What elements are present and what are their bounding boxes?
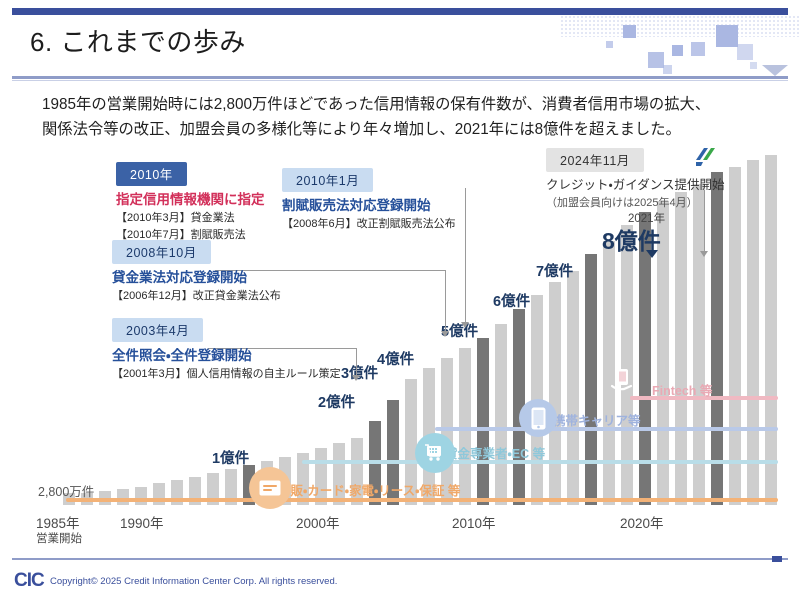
callout-heading: クレジット・ガイダンス提供開始 [546, 174, 725, 193]
band-label-carrier: 携帯キャリア等 [553, 410, 641, 429]
bar-2019 [675, 192, 686, 505]
peak-pointer-triangle [646, 250, 658, 258]
lead-line-1: 1985年の営業開始時には2,800万件ほどであった信用情報の保有件数が、消費者… [42, 92, 772, 117]
bar-2023 [747, 160, 758, 505]
leader-arrow-2024 [700, 251, 708, 257]
leader-line-2003-v [356, 348, 357, 376]
axis-tick-2020: 2020年 [620, 512, 664, 532]
deco-square [750, 62, 757, 69]
deco-square [606, 41, 613, 48]
cic-logo: CIC [14, 570, 44, 592]
band-label-fintech: Fintech 等 [652, 380, 712, 399]
bar-2012 [549, 282, 560, 505]
bar-2009 [495, 324, 506, 505]
title-divider [12, 76, 788, 79]
bar-2022 [729, 167, 740, 505]
milestone-1oku: 1億件 [212, 447, 249, 468]
triangle-down-icon [762, 65, 788, 76]
axis-tick-1985: 1985年 [36, 512, 80, 532]
copyright-text: Copyright© 2025 Credit Information Cente… [50, 576, 337, 587]
milestone-7oku: 7億件 [536, 260, 573, 281]
footer-divider [12, 558, 788, 560]
callout-heading: 貸金業法対応登録開始 [112, 266, 281, 286]
leader-arrow-2008 [441, 331, 449, 337]
deco-square [663, 65, 672, 74]
bar-2013 [567, 271, 578, 505]
callout-chip: 2024年11月 [546, 148, 644, 172]
milestone-2oku: 2億件 [318, 391, 355, 412]
callout-2003-apr: 2003年4月 全件照会・全件登録開始 【2001年3月】個人信用情報の自主ルー… [112, 318, 341, 381]
axis-tick-1990: 1990年 [120, 512, 164, 532]
smartphone-icon [519, 399, 557, 437]
cic-logo-mark-icon [694, 146, 716, 173]
shopping-cart-icon [415, 433, 455, 473]
callout-sub: 【2010年3月】貸金業法 [116, 209, 265, 225]
lead-line-2: 関係法令等の改正、加盟会員の多様化等により年々増加し、2021年には8億件を超え… [42, 117, 772, 142]
deco-square [648, 52, 664, 68]
callout-heading: 全件照会・全件登録開始 [112, 344, 341, 364]
lead-paragraph: 1985年の営業開始時には2,800万件ほどであった信用情報の保有件数が、消費者… [42, 92, 772, 142]
credit-card-icon [249, 467, 291, 509]
top-accent-bar [12, 8, 788, 15]
footer-accent-square [772, 556, 782, 562]
axis-start-note: 営業開始 [36, 530, 82, 546]
bar-2008 [477, 338, 488, 505]
bar-1989 [135, 487, 146, 505]
callout-sub: （加盟会員向けは2025年4月） [546, 194, 725, 210]
band-label-kashikin: 貸金専業者・EC 等 [445, 443, 545, 462]
dot-grid-pattern [560, 15, 800, 37]
callout-2010: 2010年 指定信用情報機関に指定 【2010年3月】貸金業法 【2010年7月… [116, 162, 265, 242]
deco-square [737, 44, 753, 60]
chart-stage: 信販・カード・家電・リース・保証 等 貸金専業者・EC 等 携帯キャリア等 Fi… [0, 140, 800, 540]
callout-chip: 2010年 [116, 162, 187, 186]
callout-2008-oct: 2008年10月 貸金業法対応登録開始 【2006年12月】改正貸金業法公布 [112, 240, 281, 303]
leader-arrow-2003 [352, 375, 360, 381]
leader-line-2008-v [445, 270, 446, 332]
deco-square [716, 25, 738, 47]
bar-2014 [585, 254, 596, 505]
callout-sub: 【2001年3月】個人信用情報の自主ルール策定 [112, 365, 341, 381]
mobile-payment-icon [610, 368, 634, 392]
callout-chip: 2003年4月 [112, 318, 203, 342]
leader-line-2010jan-v [465, 188, 466, 323]
callout-chip: 2010年1月 [282, 168, 373, 192]
callout-2010-jan: 2010年1月 割賦販売法対応登録開始 【2008年6月】改正割賦販売法公布 [282, 168, 456, 231]
deco-square [672, 45, 683, 56]
bar-2024 [765, 155, 776, 506]
bar-2020 [693, 184, 704, 505]
callout-heading: 割賦販売法対応登録開始 [282, 194, 456, 214]
bar-2021 [711, 172, 722, 505]
page-title: 6. これまでの歩み [30, 22, 246, 59]
deco-square [623, 25, 636, 38]
callout-chip: 2008年10月 [112, 240, 211, 264]
axis-tick-2000: 2000年 [296, 512, 340, 532]
leader-arrow-2010jan [461, 322, 469, 328]
callout-sub: 【2008年6月】改正割賦販売法公布 [282, 215, 456, 231]
deco-square [691, 42, 705, 56]
milestone-4oku: 4億件 [377, 348, 414, 369]
title-divider-thin [12, 80, 788, 81]
axis-tick-2010: 2010年 [452, 512, 496, 532]
milestone-6oku: 6億件 [493, 290, 530, 311]
callout-sub: 【2006年12月】改正貸金業法公布 [112, 287, 281, 303]
milestone-2800man: 2,800万件 [38, 481, 94, 500]
band-label-shinpan: 信販・カード・家電・リース・保証 等 [278, 480, 460, 499]
callout-heading: 指定信用情報機関に指定 [116, 188, 265, 208]
